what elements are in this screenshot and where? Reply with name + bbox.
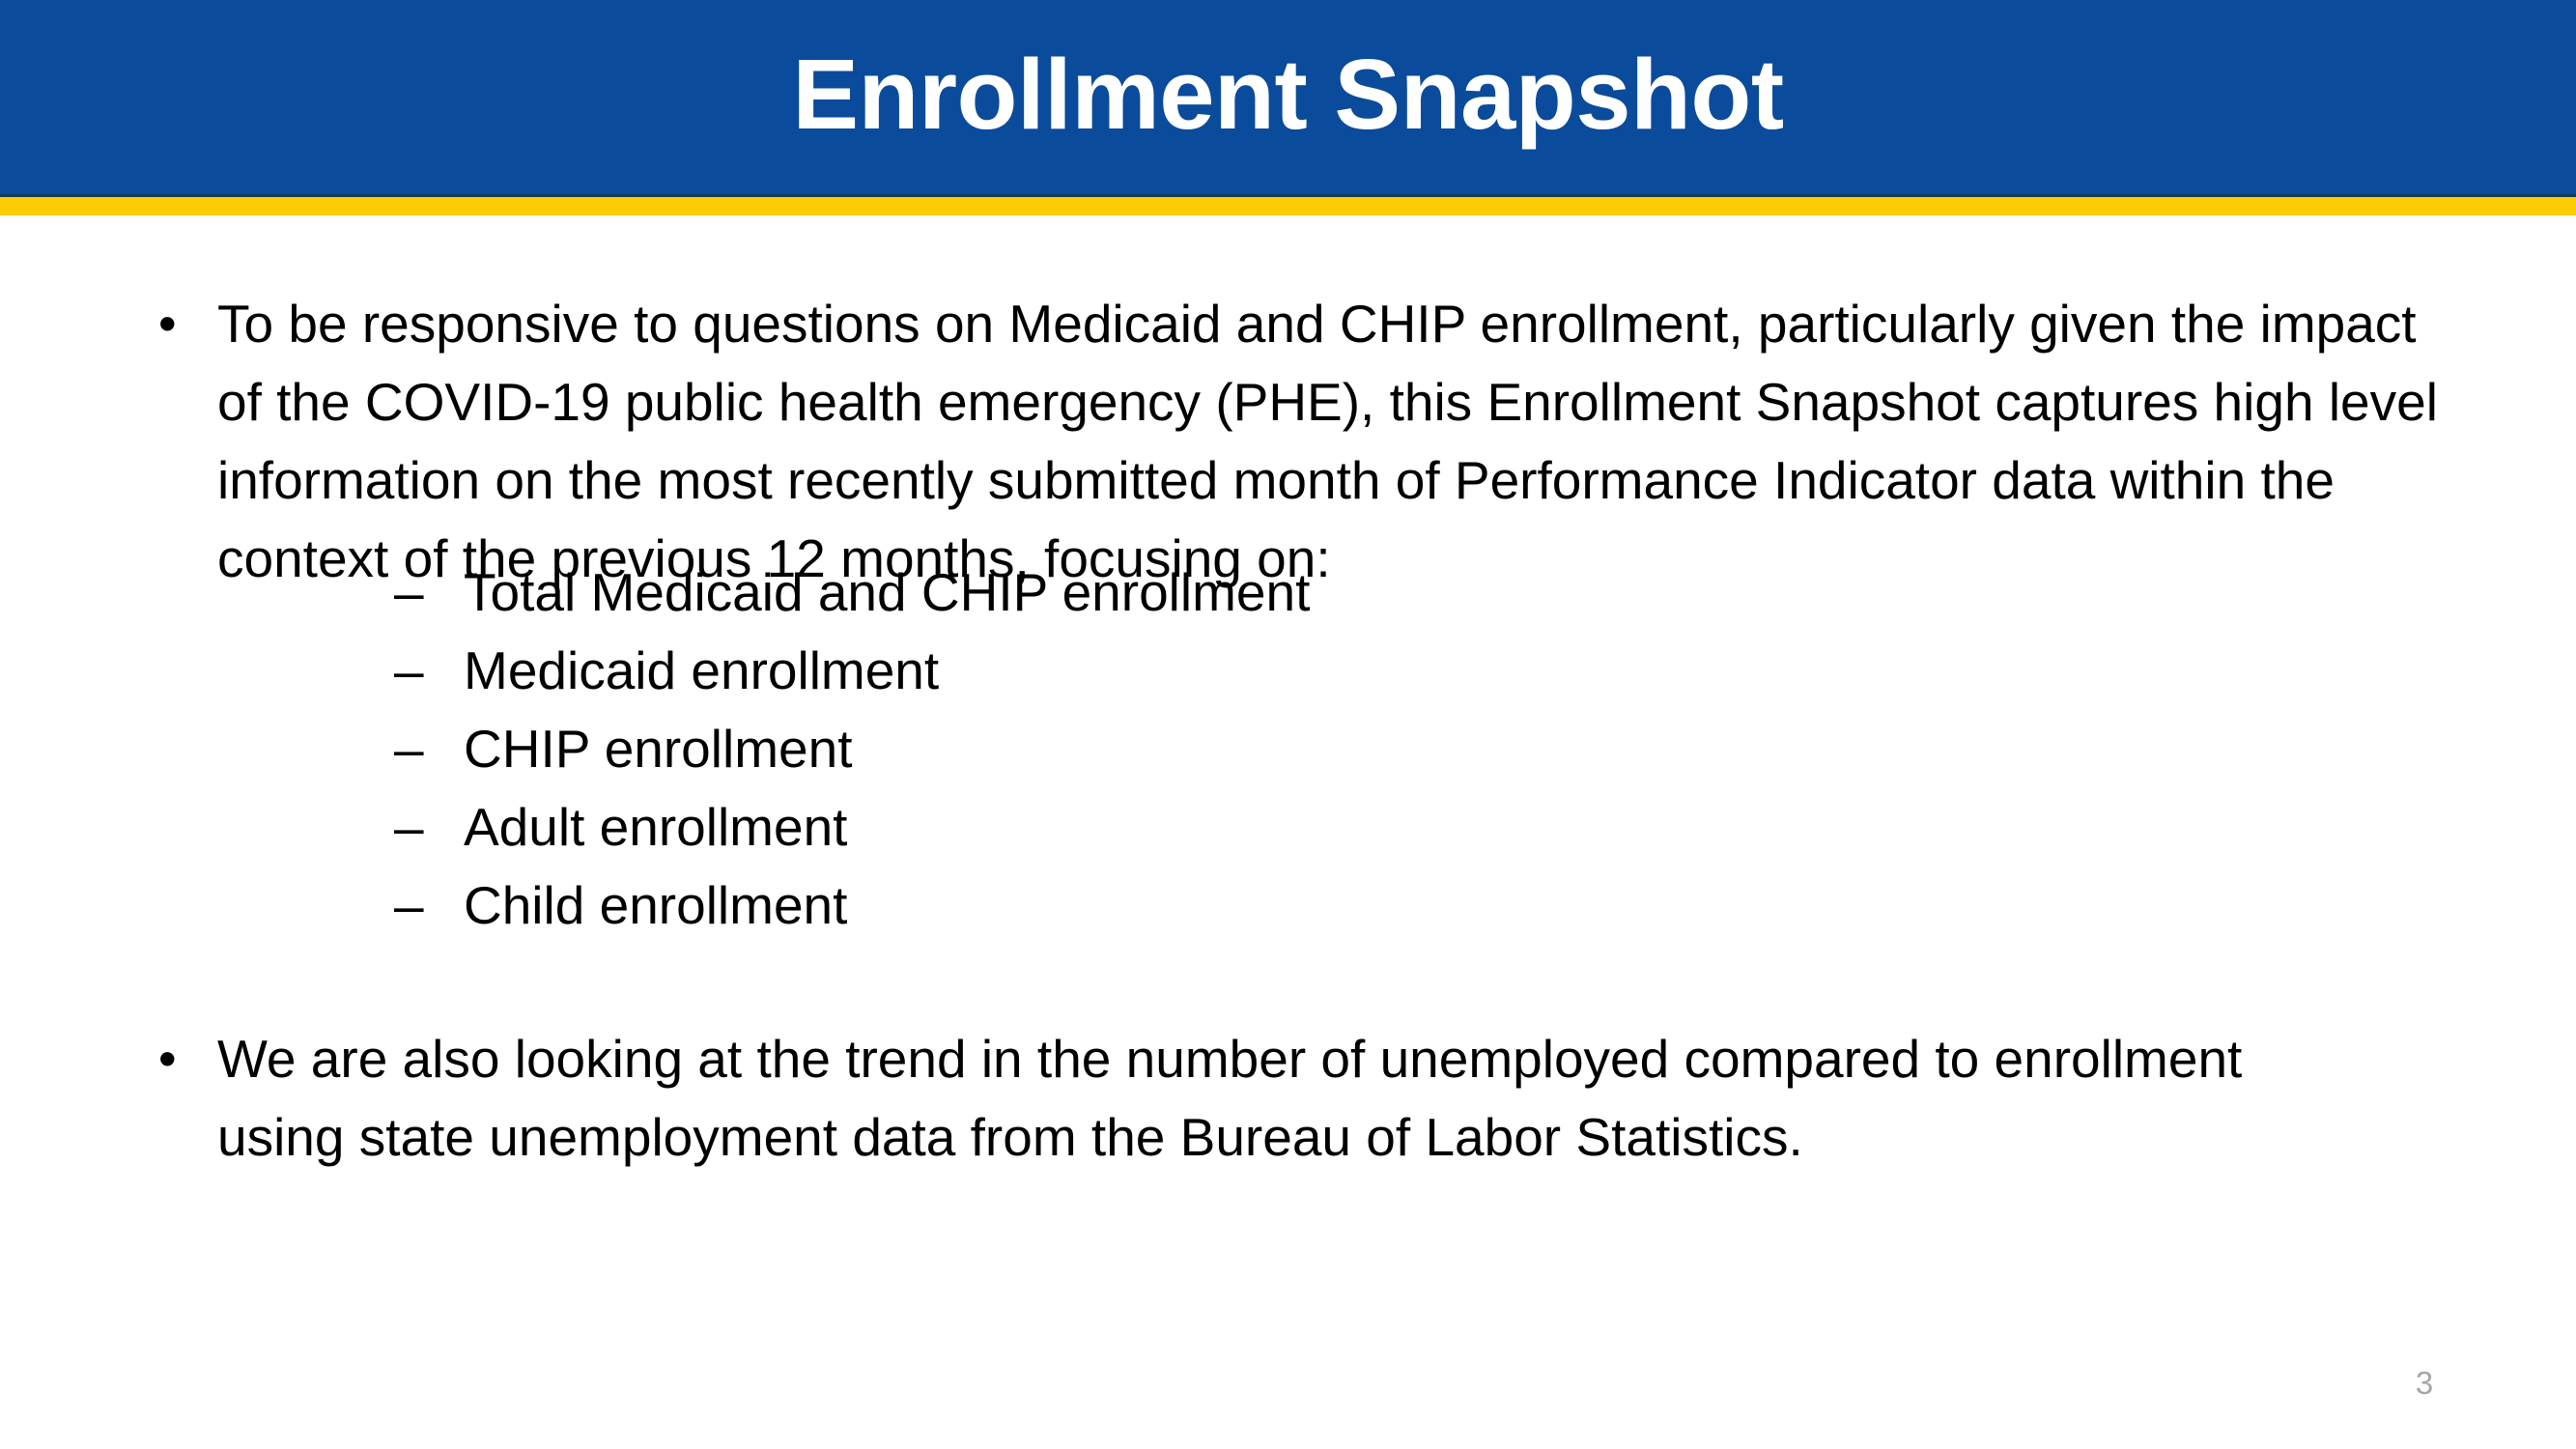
slide-header-band: Enrollment Snapshot: [0, 0, 2576, 194]
sub-bullet-label: Adult enrollment: [464, 788, 2422, 867]
list-item: – Child enrollment: [394, 867, 2422, 945]
slide-page-number: 3: [2395, 1364, 2453, 1403]
sub-bullet-label: Total Medicaid and CHIP enrollment: [464, 554, 2422, 632]
dash-marker-icon: –: [394, 788, 464, 867]
sub-bullet-list: – Total Medicaid and CHIP enrollment – M…: [394, 554, 2422, 945]
bullet-marker-icon: •: [145, 1020, 217, 1098]
bullet-text: We are also looking at the trend in the …: [217, 1020, 2362, 1177]
list-item: – Adult enrollment: [394, 788, 2422, 867]
list-item: – Total Medicaid and CHIP enrollment: [394, 554, 2422, 632]
sub-bullet-label: CHIP enrollment: [464, 710, 2422, 788]
slide-body: • To be responsive to questions on Medic…: [0, 215, 2576, 1449]
list-item: – Medicaid enrollment: [394, 632, 2422, 710]
dash-marker-icon: –: [394, 867, 464, 945]
bullet-text: To be responsive to questions on Medicai…: [217, 285, 2463, 598]
bullet-item: • We are also looking at the trend in th…: [145, 1020, 2463, 1177]
sub-bullet-label: Medicaid enrollment: [464, 632, 2422, 710]
header-accent-bar: [0, 197, 2576, 215]
list-item: – CHIP enrollment: [394, 710, 2422, 788]
dash-marker-icon: –: [394, 554, 464, 632]
slide: Enrollment Snapshot • To be responsive t…: [0, 0, 2576, 1449]
dash-marker-icon: –: [394, 632, 464, 710]
sub-bullet-label: Child enrollment: [464, 867, 2422, 945]
dash-marker-icon: –: [394, 710, 464, 788]
bullet-marker-icon: •: [145, 285, 217, 363]
bullet-item: • To be responsive to questions on Medic…: [145, 285, 2463, 598]
page-title: Enrollment Snapshot: [792, 44, 1783, 150]
